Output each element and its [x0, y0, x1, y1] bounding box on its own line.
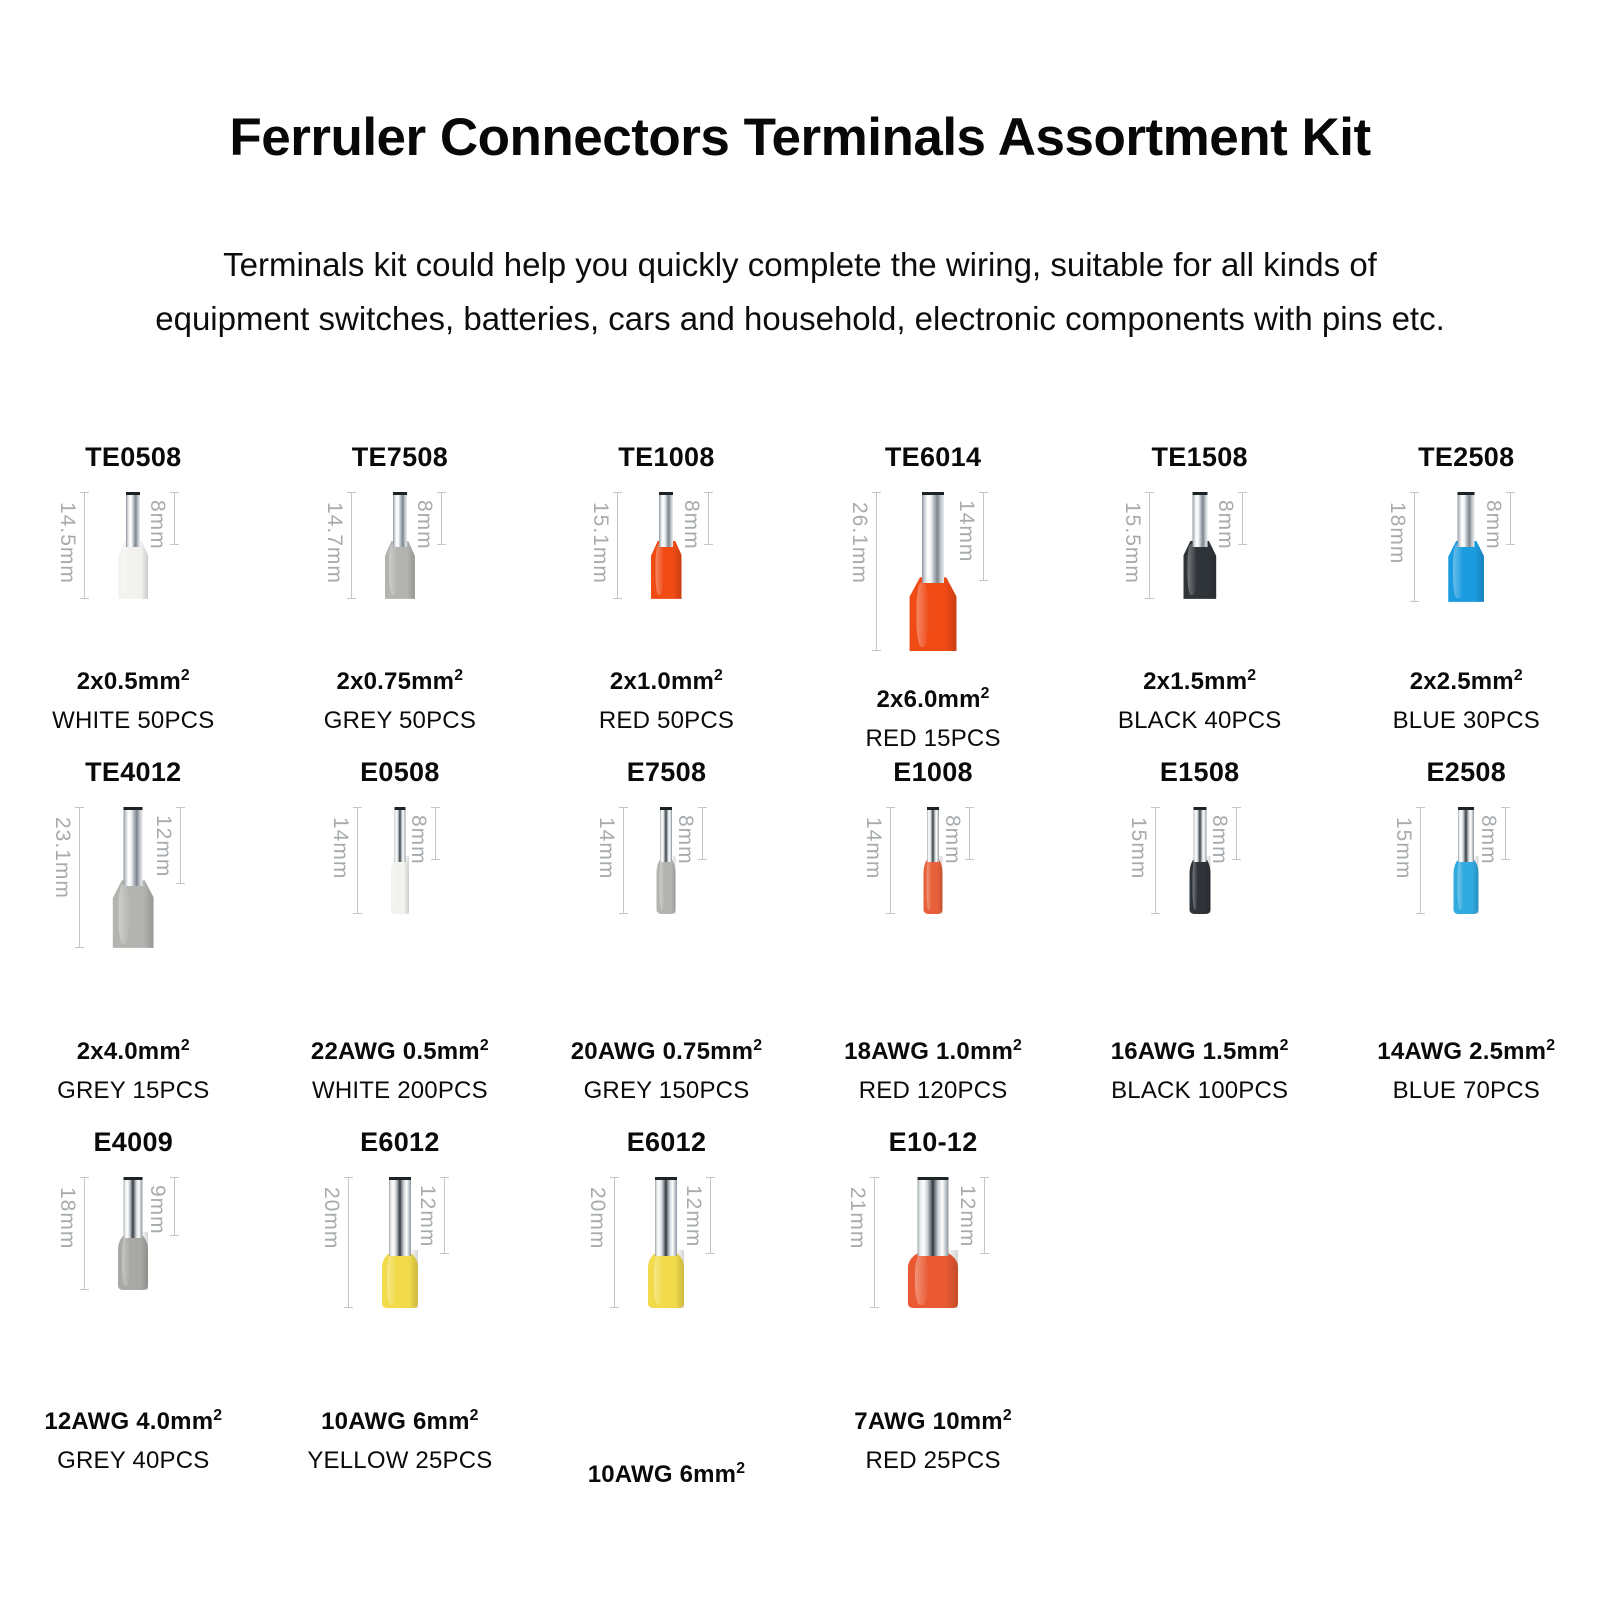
- product-caption: 2x2.5mm2BLUE 30PCS: [1333, 665, 1600, 737]
- ferrule-illustration: 15mm8mm: [1075, 801, 1325, 1013]
- ferrule-collar: [648, 1250, 684, 1308]
- spec-superscript: 2: [714, 667, 723, 684]
- ferrule-collar: [118, 541, 148, 599]
- ferrule-collar: [385, 541, 415, 599]
- collar-highlight: [119, 884, 130, 944]
- ferrule-barrel: [918, 1177, 949, 1256]
- dimension-line-barrel: [174, 492, 175, 545]
- dimension-line-barrel: [983, 492, 984, 581]
- dimension-label-barrel: 8mm: [1478, 815, 1499, 865]
- dimension-label-barrel: 8mm: [1209, 815, 1230, 865]
- product-caption: 10AWG 6mm2YELLOW 25PCS: [267, 1405, 534, 1477]
- dimension-line-total: [79, 807, 80, 948]
- dimension-label-total: 20mm: [587, 1187, 608, 1249]
- product-code: E4009: [94, 1125, 174, 1159]
- product-quantity: RED 15PCS: [800, 723, 1067, 755]
- product-spec: 2x1.0mm2: [533, 665, 800, 698]
- product-spec: 7AWG 10mm2: [800, 1405, 1067, 1438]
- ferrule-collar: [651, 541, 682, 599]
- product-spec: 18AWG 1.0mm2: [800, 1035, 1067, 1068]
- ferrule-collar: [382, 1250, 418, 1308]
- ferrule-illustration: 26.1mm14mm: [808, 486, 1058, 684]
- dimension-label-barrel: 8mm: [681, 500, 702, 550]
- dimension-line-barrel: [1236, 807, 1237, 860]
- product-cell-te1508: TE150815.5mm8mm2x1.5mm2BLACK 40PCS: [1066, 440, 1333, 755]
- product-row-3: E400918mm9mm12AWG 4.0mm2GREY 40PCSE60122…: [0, 1125, 1600, 1495]
- product-caption: 2x1.5mm2BLACK 40PCS: [1066, 665, 1333, 737]
- collar-highlight: [1453, 544, 1462, 598]
- dimension-label-total: 15.5mm: [1122, 502, 1143, 584]
- collar-highlight: [915, 1254, 928, 1305]
- product-code: E1508: [1160, 755, 1240, 789]
- product-cell-te7508: TE750814.7mm8mm2x0.75mm2GREY 50PCS: [267, 440, 534, 755]
- dimension-label-total: 14.7mm: [324, 502, 345, 584]
- product-code: TE1508: [1151, 440, 1247, 474]
- spec-superscript: 2: [480, 1037, 489, 1054]
- collar-shadow: [945, 1250, 958, 1308]
- product-quantity: RED 120PCS: [800, 1075, 1067, 1107]
- product-code: TE4012: [85, 755, 181, 789]
- dimension-label-barrel: 8mm: [942, 815, 963, 865]
- collar-highlight: [122, 1235, 130, 1286]
- product-cell-e4009: E400918mm9mm12AWG 4.0mm2GREY 40PCS: [0, 1125, 267, 1495]
- collar-highlight: [655, 544, 663, 595]
- dimension-line-total: [351, 492, 352, 599]
- dimension-line-total: [614, 1177, 615, 1308]
- collar-highlight: [122, 544, 130, 595]
- product-cell-e0508: E050814mm8mm22AWG 0.5mm2WHITE 200PCS: [267, 755, 534, 1125]
- dimension-label-barrel: 12mm: [417, 1185, 438, 1247]
- product-code: E10-12: [889, 1125, 978, 1159]
- ferrule-illustration: 15.1mm8mm: [541, 486, 791, 684]
- ferrule-barrel: [394, 807, 405, 862]
- product-row-1: TE050814.5mm8mm2x0.5mm2WHITE 50PCSTE7508…: [0, 440, 1600, 755]
- product-code: E7508: [627, 755, 707, 789]
- dimension-label-total: 14mm: [330, 817, 351, 879]
- spec-superscript: 2: [1546, 1037, 1555, 1054]
- dimension-label-barrel: 12mm: [153, 815, 174, 877]
- dimension-label-total: 15mm: [1128, 817, 1149, 879]
- collar-shadow: [143, 880, 154, 948]
- product-quantity: RED 50PCS: [533, 705, 800, 737]
- product-cell-te0508: TE050814.5mm8mm2x0.5mm2WHITE 50PCS: [0, 440, 267, 755]
- collar-shadow: [944, 577, 956, 651]
- ferrule-illustration: 20mm12mm: [541, 1171, 791, 1399]
- product-cell-te1008: TE100815.1mm8mm2x1.0mm2RED 50PCS: [533, 440, 800, 755]
- product-cell-e1508: E150815mm8mm16AWG 1.5mm2BLACK 100PCS: [1066, 755, 1333, 1125]
- collar-shadow: [409, 1250, 418, 1308]
- product-cell-te6014: TE601426.1mm14mm2x6.0mm2RED 15PCS: [800, 440, 1067, 755]
- product-caption: 2x0.75mm2GREY 50PCS: [267, 665, 534, 737]
- dimension-label-total: 26.1mm: [849, 502, 870, 584]
- spec-superscript: 2: [454, 667, 463, 684]
- dimension-label-barrel: 8mm: [414, 500, 435, 550]
- dimension-label-barrel: 8mm: [1483, 500, 1504, 550]
- spec-superscript: 2: [1280, 1037, 1289, 1054]
- ferrule-barrel: [660, 807, 672, 862]
- product-quantity: BLUE 70PCS: [1333, 1075, 1600, 1107]
- collar-highlight: [1188, 544, 1197, 595]
- dimension-line-total: [617, 492, 618, 599]
- product-infographic-page: Ferruler Connectors Terminals Assortment…: [0, 0, 1600, 1600]
- page-title: Ferruler Connectors Terminals Assortment…: [70, 110, 1530, 166]
- dimension-line-total: [348, 1177, 349, 1308]
- dimension-label-total: 23.1mm: [52, 817, 73, 899]
- product-caption: 2x0.5mm2WHITE 50PCS: [0, 665, 267, 737]
- dimension-label-total: 18mm: [57, 1187, 78, 1249]
- product-code: TE2508: [1418, 440, 1514, 474]
- dimension-line-total: [84, 1177, 85, 1290]
- dimension-label-barrel: 12mm: [957, 1185, 978, 1247]
- dimension-line-barrel: [180, 807, 181, 884]
- spec-superscript: 2: [181, 1037, 190, 1054]
- dimension-label-barrel: 9mm: [147, 1185, 168, 1235]
- ferrule-illustration: 14mm8mm: [541, 801, 791, 1013]
- product-spec: 2x0.5mm2: [0, 665, 267, 698]
- product-code: TE6014: [885, 440, 981, 474]
- dimension-label-barrel: 8mm: [408, 815, 429, 865]
- ferrule-barrel: [124, 1177, 143, 1238]
- ferrule-illustration: 18mm8mm: [1341, 486, 1591, 684]
- product-code: E1008: [893, 755, 973, 789]
- dimension-label-barrel: 14mm: [956, 500, 977, 562]
- ferrule-barrel: [393, 492, 407, 547]
- ferrule-illustration: 14.7mm8mm: [275, 486, 525, 684]
- ferrule-illustration: 15.5mm8mm: [1075, 486, 1325, 684]
- dimension-line-barrel: [1505, 807, 1506, 860]
- collar-highlight: [393, 859, 398, 910]
- product-cell-te2508: TE250818mm8mm2x2.5mm2BLUE 30PCS: [1333, 440, 1600, 755]
- subtitle-line-2: equipment switches, batteries, cars and …: [118, 292, 1482, 346]
- ferrule-barrel: [1458, 807, 1474, 862]
- product-caption: 20AWG 0.75mm2GREY 150PCS: [533, 1035, 800, 1107]
- dimension-line-total: [890, 807, 891, 914]
- ferrule-barrel: [1192, 492, 1207, 547]
- dimension-line-total: [1414, 492, 1415, 602]
- ferrule-illustration: 15mm8mm: [1341, 801, 1591, 1013]
- ferrule-collar: [1454, 856, 1479, 914]
- product-spec: 20AWG 0.75mm2: [533, 1035, 800, 1068]
- product-grid: TE050814.5mm8mm2x0.5mm2WHITE 50PCSTE7508…: [0, 440, 1600, 1495]
- ferrule-barrel: [922, 492, 944, 583]
- dimension-label-total: 14mm: [596, 817, 617, 879]
- collar-highlight: [387, 1254, 396, 1305]
- product-cell-te4012: TE401223.1mm12mm2x4.0mm2GREY 15PCS: [0, 755, 267, 1125]
- header: Ferruler Connectors Terminals Assortment…: [0, 0, 1600, 347]
- product-cell-e6012: E601220mm12mm10AWG 6mm2: [533, 1125, 800, 1495]
- dimension-line-total: [1420, 807, 1421, 914]
- product-quantity: BLACK 40PCS: [1066, 705, 1333, 737]
- product-cell-e10-12: E10-1221mm12mm7AWG 10mm2RED 25PCS: [800, 1125, 1067, 1495]
- dimension-line-total: [84, 492, 85, 599]
- product-quantity: BLACK 100PCS: [1066, 1075, 1333, 1107]
- ferrule-illustration: 14mm8mm: [808, 801, 1058, 1013]
- product-spec: 2x0.75mm2: [267, 665, 534, 698]
- product-caption: 10AWG 6mm2: [533, 1458, 800, 1491]
- collar-highlight: [654, 1254, 663, 1305]
- ferrule-barrel: [659, 492, 673, 547]
- collar-highlight: [926, 859, 931, 910]
- dimension-line-barrel: [1510, 492, 1511, 545]
- dimension-label-total: 14.5mm: [57, 502, 78, 584]
- product-spec: 2x6.0mm2: [800, 683, 1067, 716]
- collar-shadow: [675, 1250, 684, 1308]
- dimension-label-barrel: 8mm: [675, 815, 696, 865]
- ferrule-barrel: [1193, 807, 1206, 862]
- dimension-label-total: 15.1mm: [590, 502, 611, 584]
- collar-shadow: [1475, 541, 1484, 602]
- spec-superscript: 2: [181, 667, 190, 684]
- product-code: E6012: [360, 1125, 440, 1159]
- product-quantity: GREY 15PCS: [0, 1075, 267, 1107]
- product-code: E6012: [627, 1125, 707, 1159]
- product-code: TE1008: [618, 440, 714, 474]
- product-spec: 2x4.0mm2: [0, 1035, 267, 1068]
- product-cell-e2508: E250815mm8mm14AWG 2.5mm2BLUE 70PCS: [1333, 755, 1600, 1125]
- dimension-line-barrel: [710, 1177, 711, 1254]
- ferrule-collar: [910, 577, 957, 651]
- dimension-label-barrel: 12mm: [683, 1185, 704, 1247]
- subtitle-line-1: Terminals kit could help you quickly com…: [118, 238, 1482, 292]
- product-caption: 2x4.0mm2GREY 15PCS: [0, 1035, 267, 1107]
- ferrule-collar: [113, 880, 154, 948]
- dimension-line-total: [1155, 807, 1156, 914]
- spec-superscript: 2: [1514, 667, 1523, 684]
- product-caption: 14AWG 2.5mm2BLUE 70PCS: [1333, 1035, 1600, 1107]
- dimension-line-barrel: [969, 807, 970, 860]
- ferrule-collar: [1183, 541, 1216, 599]
- dimension-label-total: 15mm: [1393, 817, 1414, 879]
- dimension-label-total: 14mm: [863, 817, 884, 879]
- ferrule-collar: [1448, 541, 1484, 602]
- product-quantity: RED 25PCS: [800, 1445, 1067, 1477]
- ferrule-barrel: [126, 492, 140, 547]
- product-spec: 22AWG 0.5mm2: [267, 1035, 534, 1068]
- ferrule-barrel: [927, 807, 939, 862]
- collar-highlight: [916, 582, 928, 647]
- spec-superscript: 2: [981, 685, 990, 702]
- product-code: TE0508: [85, 440, 181, 474]
- product-row-2: TE401223.1mm12mm2x4.0mm2GREY 15PCSE05081…: [0, 755, 1600, 1125]
- product-cell-e1008: E100814mm8mm18AWG 1.0mm2RED 120PCS: [800, 755, 1067, 1125]
- ferrule-illustration: 21mm12mm: [808, 1171, 1058, 1399]
- dimension-line-total: [357, 807, 358, 914]
- product-spec: 10AWG 6mm2: [267, 1405, 534, 1438]
- dimension-line-barrel: [435, 807, 436, 860]
- product-quantity: BLUE 30PCS: [1333, 705, 1600, 737]
- ferrule-illustration: 14.5mm8mm: [8, 486, 258, 684]
- dimension-label-barrel: 8mm: [147, 500, 168, 550]
- spec-superscript: 2: [1247, 667, 1256, 684]
- product-code: TE7508: [352, 440, 448, 474]
- collar-highlight: [1192, 859, 1197, 910]
- dimension-line-barrel: [702, 807, 703, 860]
- dimension-line-barrel: [984, 1177, 985, 1254]
- product-quantity: GREY 40PCS: [0, 1445, 267, 1477]
- product-caption: 18AWG 1.0mm2RED 120PCS: [800, 1035, 1067, 1107]
- dimension-line-total: [876, 492, 877, 651]
- product-cell-e6012: E601220mm12mm10AWG 6mm2YELLOW 25PCS: [267, 1125, 534, 1495]
- product-spec: 10AWG 6mm2: [533, 1458, 800, 1491]
- collar-highlight: [1457, 859, 1464, 910]
- dimension-label-total: 20mm: [321, 1187, 342, 1249]
- product-spec: 12AWG 4.0mm2: [0, 1405, 267, 1438]
- collar-highlight: [660, 859, 665, 910]
- product-code: E2508: [1426, 755, 1506, 789]
- product-caption: 2x1.0mm2RED 50PCS: [533, 665, 800, 737]
- product-quantity: GREY 50PCS: [267, 705, 534, 737]
- ferrule-collar: [908, 1250, 958, 1308]
- dimension-line-barrel: [708, 492, 709, 545]
- product-code: E0508: [360, 755, 440, 789]
- spec-superscript: 2: [213, 1407, 222, 1424]
- spec-superscript: 2: [1013, 1037, 1022, 1054]
- product-quantity: GREY 150PCS: [533, 1075, 800, 1107]
- ferrule-barrel: [1458, 492, 1475, 547]
- product-caption: 7AWG 10mm2RED 25PCS: [800, 1405, 1067, 1477]
- product-quantity: WHITE 50PCS: [0, 705, 267, 737]
- dimension-line-barrel: [1242, 492, 1243, 545]
- page-subtitle: Terminals kit could help you quickly com…: [70, 238, 1530, 347]
- product-quantity: YELLOW 25PCS: [267, 1445, 534, 1477]
- product-spec: 14AWG 2.5mm2: [1333, 1035, 1600, 1068]
- collar-highlight: [389, 544, 397, 595]
- product-spec: 2x2.5mm2: [1333, 665, 1600, 698]
- spec-superscript: 2: [736, 1460, 745, 1477]
- dimension-line-barrel: [444, 1177, 445, 1254]
- ferrule-illustration: 18mm9mm: [8, 1171, 258, 1399]
- product-spec: 2x1.5mm2: [1066, 665, 1333, 698]
- dimension-label-total: 21mm: [847, 1187, 868, 1249]
- product-caption: 22AWG 0.5mm2WHITE 200PCS: [267, 1035, 534, 1107]
- product-caption: 2x6.0mm2RED 15PCS: [800, 683, 1067, 755]
- spec-superscript: 2: [470, 1407, 479, 1424]
- ferrule-collar: [924, 856, 943, 914]
- dimension-line-barrel: [441, 492, 442, 545]
- product-quantity: WHITE 200PCS: [267, 1075, 534, 1107]
- dimension-line-total: [623, 807, 624, 914]
- ferrule-barrel: [655, 1177, 677, 1256]
- product-caption: 12AWG 4.0mm2GREY 40PCS: [0, 1405, 267, 1477]
- ferrule-illustration: 14mm8mm: [275, 801, 525, 1013]
- ferrule-illustration: 20mm12mm: [275, 1171, 525, 1399]
- spec-superscript: 2: [753, 1037, 762, 1054]
- collar-shadow: [141, 1232, 149, 1290]
- dimension-line-total: [1149, 492, 1150, 599]
- spec-superscript: 2: [1003, 1407, 1012, 1424]
- ferrule-illustration: 23.1mm12mm: [8, 801, 258, 1013]
- product-cell-e7508: E750814mm8mm20AWG 0.75mm2GREY 150PCS: [533, 755, 800, 1125]
- product-spec: 16AWG 1.5mm2: [1066, 1035, 1333, 1068]
- product-caption: 16AWG 1.5mm2BLACK 100PCS: [1066, 1035, 1333, 1107]
- dimension-label-total: 18mm: [1387, 502, 1408, 564]
- dimension-label-barrel: 8mm: [1215, 500, 1236, 550]
- dimension-line-barrel: [174, 1177, 175, 1236]
- ferrule-barrel: [389, 1177, 411, 1256]
- ferrule-collar: [118, 1232, 148, 1290]
- ferrule-barrel: [124, 807, 143, 886]
- dimension-line-total: [874, 1177, 875, 1308]
